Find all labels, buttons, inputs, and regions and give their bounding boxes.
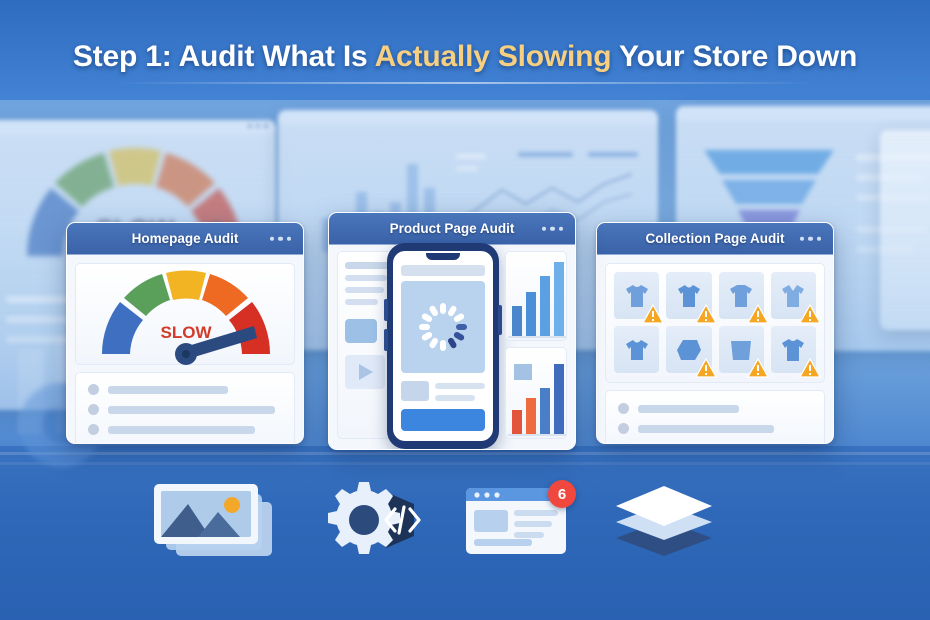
card-body bbox=[329, 245, 575, 450]
bar-chart-bottom bbox=[506, 348, 568, 440]
mobile-phone-mockup bbox=[387, 243, 499, 449]
gear-code-icon[interactable] bbox=[318, 478, 428, 567]
loading-area bbox=[401, 281, 485, 373]
warning-icon[interactable] bbox=[799, 304, 821, 324]
card-product-page-audit[interactable]: Product Page Audit bbox=[328, 212, 576, 450]
title-suffix: Your Store Down bbox=[611, 40, 857, 73]
image-placeholder-block bbox=[345, 319, 377, 343]
browser-window-icon[interactable]: 6 bbox=[462, 480, 580, 563]
slide-canvas: SLOW bbox=[0, 0, 930, 620]
metrics-panel-top bbox=[505, 251, 567, 341]
notification-badge[interactable]: 6 bbox=[548, 480, 576, 508]
bar-chart-top bbox=[506, 252, 568, 342]
metrics-panel-bottom bbox=[505, 347, 567, 439]
list-item[interactable] bbox=[88, 384, 282, 395]
tshirt-icon bbox=[622, 337, 652, 363]
product-grid bbox=[614, 272, 816, 373]
bullet-icon bbox=[88, 384, 99, 395]
warning-icon[interactable] bbox=[695, 358, 717, 378]
collection-issue-list bbox=[605, 390, 825, 444]
product-cell[interactable] bbox=[719, 272, 764, 319]
card-body: SLOW bbox=[67, 255, 303, 444]
bullet-icon bbox=[618, 403, 629, 414]
window-dots-icon[interactable] bbox=[542, 226, 564, 231]
window-dots-icon[interactable] bbox=[800, 236, 822, 241]
placeholder-line bbox=[638, 425, 774, 433]
card-header: Homepage Audit bbox=[67, 223, 303, 255]
list-item[interactable] bbox=[618, 423, 812, 434]
list-item[interactable] bbox=[618, 403, 812, 414]
play-button-icon[interactable] bbox=[345, 355, 385, 389]
floor-edge-line-2 bbox=[0, 462, 930, 465]
product-cell[interactable] bbox=[771, 272, 816, 319]
bullet-icon bbox=[618, 423, 629, 434]
placeholder-line bbox=[108, 386, 228, 394]
card-header: Collection Page Audit bbox=[597, 223, 833, 255]
bullet-icon bbox=[88, 424, 99, 435]
homepage-issue-list bbox=[75, 372, 295, 444]
warning-icon[interactable] bbox=[642, 304, 664, 324]
window-dots-icon[interactable] bbox=[270, 236, 292, 241]
product-cell[interactable] bbox=[614, 272, 659, 319]
list-item[interactable] bbox=[88, 404, 282, 415]
card-title: Collection Page Audit bbox=[645, 231, 784, 246]
cta-button[interactable] bbox=[401, 409, 485, 431]
warning-icon[interactable] bbox=[747, 358, 769, 378]
card-title: Homepage Audit bbox=[132, 231, 239, 246]
title-highlight: Actually Slowing bbox=[375, 40, 612, 73]
product-cell[interactable] bbox=[666, 272, 711, 319]
background-panel-far-right bbox=[880, 130, 930, 330]
product-cell[interactable] bbox=[666, 326, 711, 373]
speed-gauge: SLOW bbox=[76, 266, 296, 366]
page-title: Step 1: Audit What Is Actually Slowing Y… bbox=[0, 40, 930, 74]
badge-count: 6 bbox=[558, 486, 566, 503]
product-cell[interactable] bbox=[719, 326, 764, 373]
slide-heading: Step 1: Audit What Is Actually Slowing Y… bbox=[0, 40, 930, 74]
product-grid-panel bbox=[605, 263, 825, 383]
image-icon[interactable] bbox=[150, 480, 285, 565]
card-title: Product Page Audit bbox=[390, 221, 515, 236]
card-header: Product Page Audit bbox=[329, 213, 575, 245]
card-collection-page-audit[interactable]: Collection Page Audit bbox=[596, 222, 834, 444]
floor-edge-line bbox=[0, 452, 930, 455]
list-item[interactable] bbox=[88, 424, 282, 435]
card-homepage-audit[interactable]: Homepage Audit SLOW bbox=[66, 222, 304, 444]
bullet-icon bbox=[88, 404, 99, 415]
gauge-panel: SLOW bbox=[75, 263, 295, 365]
gauge-label: SLOW bbox=[161, 323, 213, 342]
layers-icon[interactable] bbox=[608, 480, 720, 565]
warning-icon[interactable] bbox=[799, 358, 821, 378]
loading-spinner-icon bbox=[415, 299, 471, 355]
warning-icon[interactable] bbox=[695, 304, 717, 324]
product-cell[interactable] bbox=[771, 326, 816, 373]
placeholder-line bbox=[638, 405, 739, 413]
placeholder-line bbox=[108, 406, 275, 414]
warning-icon[interactable] bbox=[747, 304, 769, 324]
placeholder-line bbox=[108, 426, 255, 434]
card-body bbox=[597, 255, 833, 444]
title-underline bbox=[115, 82, 815, 84]
product-cell[interactable] bbox=[614, 326, 659, 373]
title-prefix: Step 1: Audit What Is bbox=[73, 40, 375, 73]
